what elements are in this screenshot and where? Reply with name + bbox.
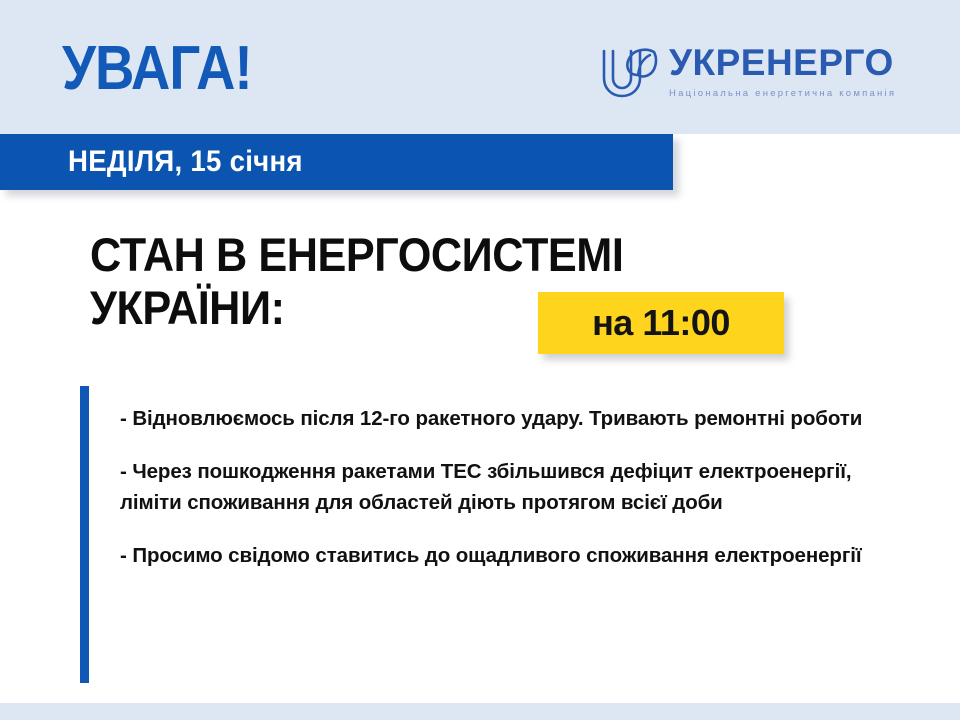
list-item: - Через пошкодження ракетами ТЕС збільши…	[120, 456, 890, 518]
date-banner: НЕДІЛЯ, 15 січня	[0, 134, 673, 190]
bullet-list: - Відновлюємось після 12-го ракетного уд…	[120, 403, 890, 571]
logo-text-wrap: УКРЕНЕРГО Національна енергетична компан…	[669, 44, 896, 99]
logo-wordmark: УКРЕНЕРГО	[669, 44, 896, 81]
attention-heading: УВАГА!	[62, 38, 252, 100]
accent-bar	[80, 386, 89, 683]
time-badge: на 11:00	[538, 292, 784, 354]
footer-band	[0, 703, 960, 720]
logo-tagline: Національна енергетична компанія	[669, 88, 896, 99]
time-badge-label: на 11:00	[592, 305, 730, 341]
ukrenergo-logo: УКРЕНЕРГО Національна енергетична компан…	[598, 44, 896, 103]
list-item: - Відновлюємось після 12-го ракетного уд…	[120, 403, 890, 434]
date-banner-label: НЕДІЛЯ, 15 січня	[68, 147, 303, 177]
ukrenergo-leaf-mark	[598, 45, 660, 103]
list-item: - Просимо свідомо ставитись до ощадливог…	[120, 540, 890, 571]
